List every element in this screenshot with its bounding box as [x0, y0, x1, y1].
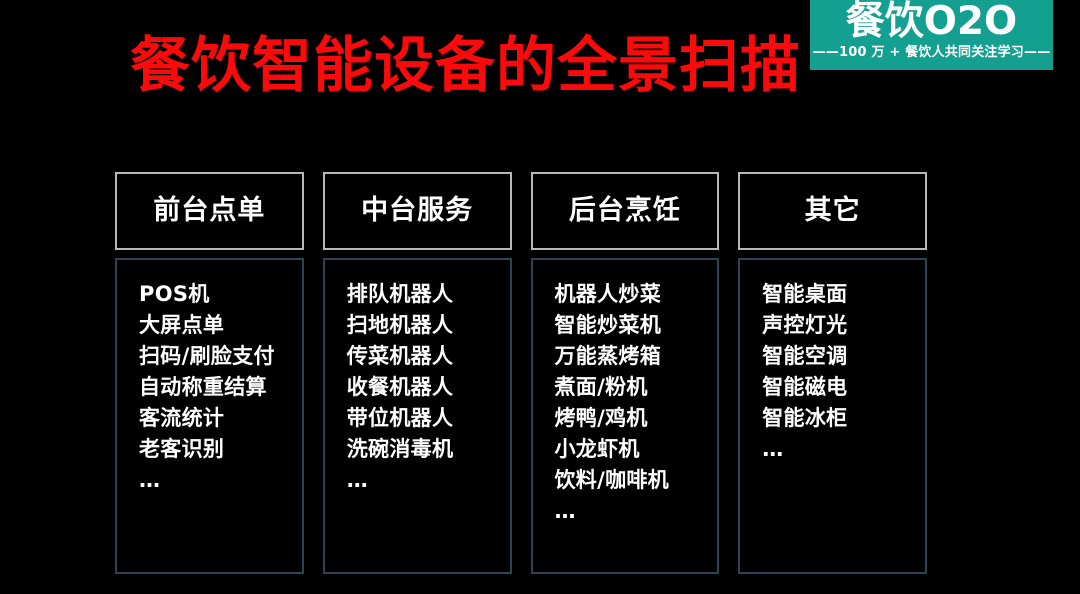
column-header-label: 其它	[805, 196, 861, 226]
list-item: 扫码/刷脸支付	[139, 341, 302, 372]
list-item: 声控灯光	[762, 310, 925, 341]
list-item: 洗碗消毒机	[347, 434, 510, 465]
column-body-box: POS机 大屏点单 扫码/刷脸支付 自动称重结算 客流统计 老客识别 …	[115, 258, 304, 574]
list-item: 大屏点单	[139, 310, 302, 341]
column-header-box: 中台服务	[323, 172, 512, 250]
column-body-box: 机器人炒菜 智能炒菜机 万能蒸烤箱 煮面/粉机 烤鸭/鸡机 小龙虾机 饮料/咖啡…	[531, 258, 720, 574]
list-item: 自动称重结算	[139, 372, 302, 403]
list-item: 收餐机器人	[347, 372, 510, 403]
column-header-box: 前台点单	[115, 172, 304, 250]
list-item: 智能冰柜	[762, 403, 925, 434]
list-item-ellipsis: …	[139, 465, 302, 496]
slide-canvas: 餐饮O2O ——100 万 + 餐饮人共同关注学习—— 餐饮智能设备的全景扫描 …	[0, 0, 1080, 594]
list-item: 客流统计	[139, 403, 302, 434]
list-item: POS机	[139, 279, 302, 310]
column-header-box: 其它	[738, 172, 927, 250]
column-header-label: 前台点单	[153, 196, 265, 226]
list-item: 烤鸭/鸡机	[555, 403, 718, 434]
column-front-desk-ordering: 前台点单 POS机 大屏点单 扫码/刷脸支付 自动称重结算 客流统计 老客识别 …	[115, 172, 304, 574]
list-item-ellipsis: …	[555, 496, 718, 527]
list-item: 万能蒸烤箱	[555, 341, 718, 372]
column-body-box: 智能桌面 声控灯光 智能空调 智能磁电 智能冰柜 …	[738, 258, 927, 574]
list-item: 智能空调	[762, 341, 925, 372]
list-item: 带位机器人	[347, 403, 510, 434]
column-back-kitchen: 后台烹饪 机器人炒菜 智能炒菜机 万能蒸烤箱 煮面/粉机 烤鸭/鸡机 小龙虾机 …	[531, 172, 720, 574]
list-item-ellipsis: …	[762, 434, 925, 465]
list-item-ellipsis: …	[347, 465, 510, 496]
column-header-label: 中台服务	[361, 196, 473, 226]
list-item: 智能桌面	[762, 279, 925, 310]
column-other: 其它 智能桌面 声控灯光 智能空调 智能磁电 智能冰柜 …	[738, 172, 927, 574]
brand-wordmark: 餐饮O2O	[846, 1, 1017, 42]
list-item: 老客识别	[139, 434, 302, 465]
page-title: 餐饮智能设备的全景扫描	[130, 30, 830, 102]
column-body-box: 排队机器人 扫地机器人 传菜机器人 收餐机器人 带位机器人 洗碗消毒机 …	[323, 258, 512, 574]
list-item: 智能磁电	[762, 372, 925, 403]
list-item: 煮面/粉机	[555, 372, 718, 403]
column-header-box: 后台烹饪	[531, 172, 720, 250]
list-item: 扫地机器人	[347, 310, 510, 341]
list-item: 传菜机器人	[347, 341, 510, 372]
column-mid-service: 中台服务 排队机器人 扫地机器人 传菜机器人 收餐机器人 带位机器人 洗碗消毒机…	[323, 172, 512, 574]
list-item: 小龙虾机	[555, 434, 718, 465]
list-item: 饮料/咖啡机	[555, 465, 718, 496]
brand-tagline: ——100 万 + 餐饮人共同关注学习——	[813, 44, 1051, 61]
brand-logo: 餐饮O2O ——100 万 + 餐饮人共同关注学习——	[810, 0, 1053, 70]
category-columns: 前台点单 POS机 大屏点单 扫码/刷脸支付 自动称重结算 客流统计 老客识别 …	[115, 172, 927, 574]
list-item: 智能炒菜机	[555, 310, 718, 341]
list-item: 排队机器人	[347, 279, 510, 310]
column-header-label: 后台烹饪	[569, 196, 681, 226]
list-item: 机器人炒菜	[555, 279, 718, 310]
